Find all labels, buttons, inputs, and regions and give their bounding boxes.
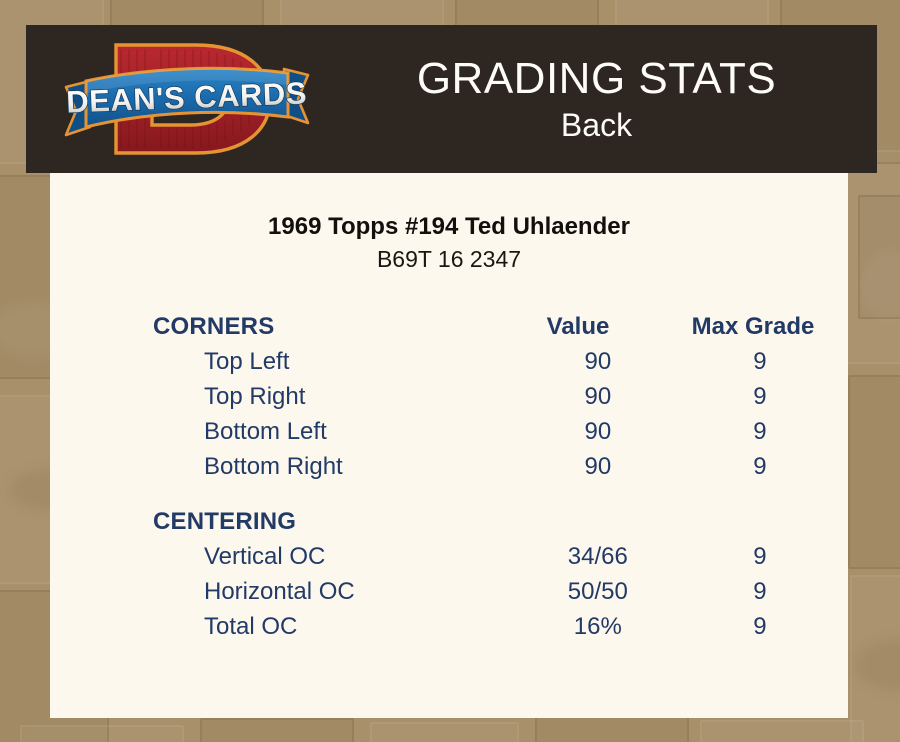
row-value: 90 xyxy=(524,449,672,484)
row-max-grade: 9 xyxy=(672,574,848,609)
row-max-grade: 9 xyxy=(672,539,848,574)
table-row: Vertical OC34/669 xyxy=(153,539,848,574)
section-spacer xyxy=(153,484,848,504)
row-label: Total OC xyxy=(153,609,524,644)
section-name: CORNERS xyxy=(153,309,498,344)
row-max-grade: 9 xyxy=(672,344,848,379)
section-header-row: CENTERING xyxy=(153,504,848,539)
row-value: 50/50 xyxy=(524,574,672,609)
card-code: B69T 16 2347 xyxy=(50,244,848,274)
row-max-grade: 9 xyxy=(672,609,848,644)
table-row: Horizontal OC50/509 xyxy=(153,574,848,609)
row-label: Bottom Right xyxy=(153,449,524,484)
column-header-value: Value xyxy=(498,309,658,344)
table-row: Top Right909 xyxy=(153,379,848,414)
grading-stats-table: CORNERSValueMax GradeTop Left909Top Righ… xyxy=(153,309,848,644)
column-header-max-grade: Max Grade xyxy=(658,309,848,344)
section-name: CENTERING xyxy=(153,504,498,539)
deans-cards-logo[interactable]: DEAN'S CARDS xyxy=(56,31,316,167)
table-row: Bottom Right909 xyxy=(153,449,848,484)
page-subtitle: Back xyxy=(561,105,632,145)
grading-stats-page: DEAN'S CARDS GRADING STATS Back 1969 Top… xyxy=(0,0,900,742)
row-label: Bottom Left xyxy=(153,414,524,449)
card-title: 1969 Topps #194 Ted Uhlaender xyxy=(50,212,848,242)
row-value: 90 xyxy=(524,379,672,414)
row-value: 90 xyxy=(524,344,672,379)
table-row: Total OC16%9 xyxy=(153,609,848,644)
row-value: 90 xyxy=(524,414,672,449)
row-label: Top Right xyxy=(153,379,524,414)
page-title: GRADING STATS xyxy=(417,53,776,105)
row-value: 34/66 xyxy=(524,539,672,574)
section-header-row: CORNERSValueMax Grade xyxy=(153,309,848,344)
table-row: Top Left909 xyxy=(153,344,848,379)
row-value: 16% xyxy=(524,609,672,644)
row-label: Top Left xyxy=(153,344,524,379)
row-max-grade: 9 xyxy=(672,449,848,484)
header-bar: DEAN'S CARDS GRADING STATS Back xyxy=(26,25,877,173)
row-max-grade: 9 xyxy=(672,379,848,414)
row-max-grade: 9 xyxy=(672,414,848,449)
content-panel: 1969 Topps #194 Ted Uhlaender B69T 16 23… xyxy=(50,173,848,718)
row-label: Vertical OC xyxy=(153,539,524,574)
row-label: Horizontal OC xyxy=(153,574,524,609)
table-row: Bottom Left909 xyxy=(153,414,848,449)
header-title-block: GRADING STATS Back xyxy=(316,25,877,173)
